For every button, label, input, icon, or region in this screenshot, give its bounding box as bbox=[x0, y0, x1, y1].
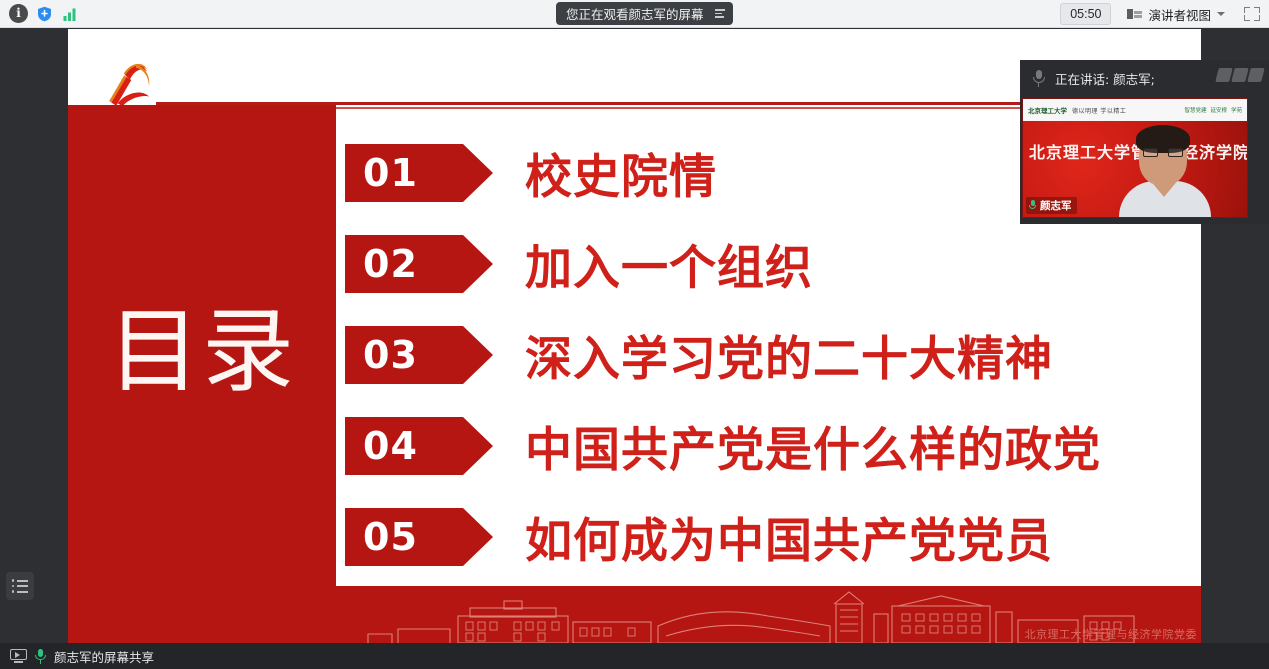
info-icon[interactable]: i bbox=[9, 4, 28, 23]
view-mode-selector[interactable]: 演讲者视图 bbox=[1121, 2, 1231, 27]
slide-footer-caption: 北京理工大学管理与经济学院党委 bbox=[1025, 626, 1198, 642]
toc-item: 04 中国共产党是什么样的政党 bbox=[345, 400, 1195, 491]
speaker-video-thumbnail[interactable]: 北京理工大学 德以明理 学以精工 智慧党建 延安根 学苑 北京理工大学管理与经济… bbox=[1022, 98, 1248, 218]
video-banner-strip: 北京理工大学 德以明理 学以精工 智慧党建 延安根 学苑 bbox=[1023, 99, 1247, 121]
toc-number-chevron: 03 bbox=[345, 326, 463, 384]
toc-label: 如何成为中国共产党党员 bbox=[525, 502, 1053, 571]
speaker-video-header: 正在讲话: 颜志军; bbox=[1020, 60, 1269, 97]
meeting-timer: 05:50 bbox=[1060, 3, 1111, 25]
layout-icon bbox=[1127, 8, 1142, 20]
signal-icon[interactable] bbox=[61, 4, 80, 23]
toc-number: 05 bbox=[363, 515, 418, 559]
banner-label-2: 延安根 bbox=[1210, 106, 1227, 114]
overlay-badges-icon bbox=[1217, 68, 1263, 82]
toc-label: 中国共产党是什么样的政党 bbox=[525, 411, 1101, 480]
video-name-plate: 颜志军 bbox=[1026, 197, 1077, 214]
microphone-muted-icon bbox=[1032, 70, 1045, 87]
toc-number: 02 bbox=[363, 242, 418, 286]
participants-list-icon[interactable] bbox=[6, 572, 34, 600]
toc-number-chevron: 01 bbox=[345, 144, 463, 202]
banner-label-3: 学苑 bbox=[1231, 106, 1242, 114]
university-motto: 德以明理 学以精工 bbox=[1072, 106, 1126, 115]
toc-item: 05 如何成为中国共产党党员 bbox=[345, 491, 1195, 582]
slide-footer-band: 北京理工大学管理与经济学院党委 bbox=[68, 586, 1201, 643]
microphone-active-icon bbox=[1029, 200, 1036, 211]
contents-red-panel: 目录 bbox=[68, 105, 336, 599]
zoom-meeting-window: i 您正在观看颜志军的屏幕 05:50 bbox=[0, 0, 1269, 669]
toc-label: 加入一个组织 bbox=[525, 229, 813, 298]
toc-number: 04 bbox=[363, 424, 418, 468]
screen-share-icon[interactable] bbox=[10, 649, 27, 663]
toc-item: 02 加入一个组织 bbox=[345, 218, 1195, 309]
speaking-now-label: 正在讲话: 颜志军; bbox=[1055, 69, 1155, 88]
shield-icon[interactable] bbox=[35, 4, 54, 23]
toc-number: 01 bbox=[363, 151, 418, 195]
banner-label-1: 智慧党建 bbox=[1184, 106, 1206, 114]
toc-number-chevron: 04 bbox=[345, 417, 463, 475]
toc-label: 校史院情 bbox=[525, 138, 717, 207]
list-menu-icon[interactable] bbox=[712, 9, 725, 18]
banner-right-labels: 智慧党建 延安根 学苑 bbox=[1184, 106, 1242, 114]
exit-fullscreen-icon[interactable] bbox=[1241, 3, 1263, 25]
speaker-figure bbox=[1119, 129, 1211, 218]
toc-number: 03 bbox=[363, 333, 418, 377]
contents-title: 目录 bbox=[108, 304, 296, 400]
screen-watch-notice[interactable]: 您正在观看颜志军的屏幕 bbox=[556, 2, 733, 25]
video-name-label: 颜志军 bbox=[1040, 198, 1072, 213]
bottom-status-bar: 颜志军的屏幕共享 bbox=[0, 643, 1269, 669]
screen-watch-notice-label: 您正在观看颜志军的屏幕 bbox=[566, 4, 704, 23]
view-mode-label: 演讲者视图 bbox=[1148, 5, 1211, 24]
topbar-left-icons: i bbox=[0, 4, 80, 23]
toc-item: 03 深入学习党的二十大精神 bbox=[345, 309, 1195, 400]
toc-number-chevron: 05 bbox=[345, 508, 463, 566]
topbar-right-controls: 05:50 演讲者视图 bbox=[1060, 0, 1263, 28]
toc-label: 深入学习党的二十大精神 bbox=[525, 320, 1053, 389]
speaker-video-panel[interactable]: 正在讲话: 颜志军; 北京理工大学 德以明理 学以精工 智慧党建 延安根 学苑 … bbox=[1020, 60, 1269, 224]
toc-number-chevron: 02 bbox=[345, 235, 463, 293]
microphone-active-icon[interactable] bbox=[35, 649, 46, 664]
chevron-down-icon[interactable] bbox=[1217, 12, 1225, 16]
screen-share-status-label: 颜志军的屏幕共享 bbox=[54, 647, 154, 666]
top-toolbar: i 您正在观看颜志军的屏幕 05:50 bbox=[0, 0, 1269, 28]
university-logo-text: 北京理工大学 bbox=[1028, 105, 1067, 115]
